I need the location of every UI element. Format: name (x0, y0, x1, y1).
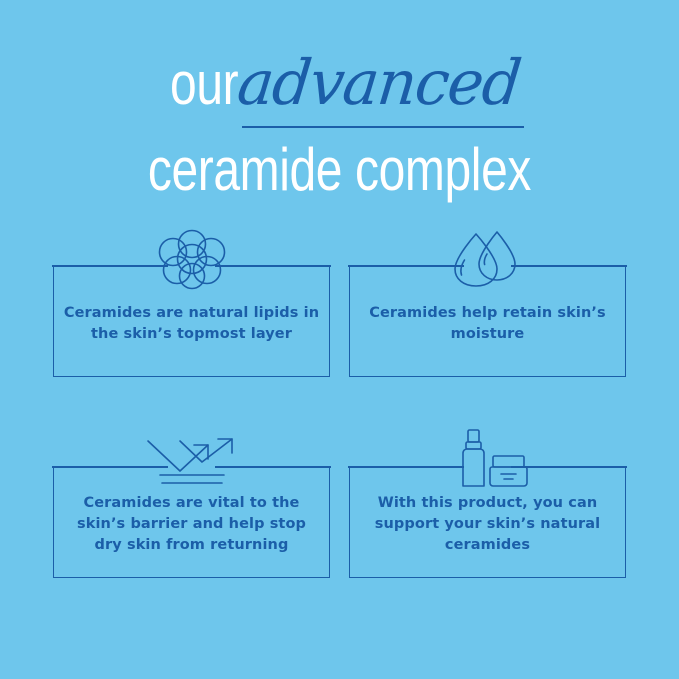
headline-script-wrapper: advanced (238, 52, 526, 114)
ceramide-infographic: ouradvanced ceramide complex Ceramid (0, 0, 679, 679)
headline-line-1: ouradvanced (0, 52, 679, 118)
headline-block: ouradvanced ceramide complex (0, 52, 679, 202)
headline-word-advanced: advanced (235, 52, 523, 114)
headline-ceramide-complex: ceramide complex (148, 140, 531, 200)
card-text: Ceramides are vital to the skin’s barrie… (53, 493, 330, 556)
card-text: Ceramides help retain skin’s moisture (349, 303, 626, 345)
headline-line-2: ceramide complex (0, 140, 679, 202)
card-text: Ceramides are natural lipids in the skin… (53, 303, 330, 345)
headline-word-our: our (170, 54, 238, 114)
card-text: With this product, you can support your … (349, 493, 626, 556)
script-underline (242, 126, 524, 128)
